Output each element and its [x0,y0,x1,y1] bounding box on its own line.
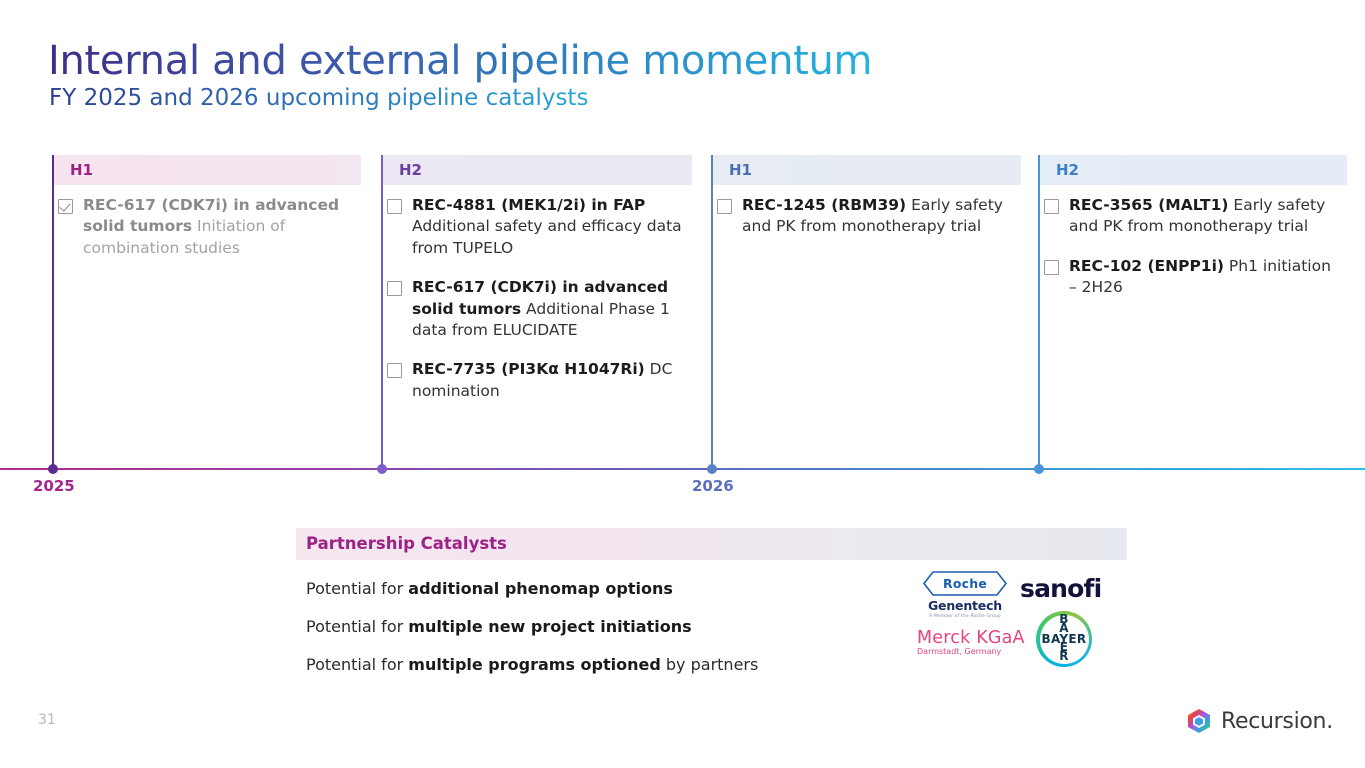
sanofi-logo: sanofi [1020,574,1101,603]
column-period-header: H2 [1040,155,1347,185]
checkbox-unchecked-icon[interactable] [717,199,732,214]
bayer-logo: BA ER BAYER [1036,611,1092,667]
timeline-column: H2REC-3565 (MALT1) Early safety and PK f… [1040,155,1347,317]
sanofi-wordmark: sanofi [1020,574,1101,603]
page-number: 31 [38,712,56,728]
timeline-year-label: 2025 [33,477,75,495]
timeline-column: H1REC-617 (CDK7i) in advanced solid tumo… [54,155,361,277]
catalyst-item-text: REC-617 (CDK7i) in advanced solid tumors… [412,277,688,341]
bayer-letter: R [1036,652,1092,661]
timeline-column: H2REC-4881 (MEK1/2i) in FAP Additional s… [383,155,692,420]
timeline-node-dot [1034,464,1044,474]
roche-genentech-logo: Roche Genentech A Member of the Roche Gr… [922,571,1008,619]
partnership-catalysts-heading: Partnership Catalysts [296,528,1127,560]
merck-wordmark: Merck KGaA [917,628,1025,648]
page-subtitle: FY 2025 and 2026 upcoming pipeline catal… [49,85,588,111]
catalyst-item[interactable]: REC-4881 (MEK1/2i) in FAP Additional saf… [387,195,688,259]
bayer-wordmark-horizontal: BAYER [1036,633,1092,645]
checkbox-unchecked-icon[interactable] [1044,199,1059,214]
catalyst-item-title: REC-1245 (RBM39) [742,196,906,214]
catalyst-item[interactable]: REC-102 (ENPP1i) Ph1 initiation – 2H26 [1044,256,1343,299]
catalyst-item[interactable]: REC-3565 (MALT1) Early safety and PK fro… [1044,195,1343,238]
roche-hexagon-icon: Roche [923,571,1007,596]
catalyst-item-text: REC-1245 (RBM39) Early safety and PK fro… [742,195,1017,238]
merck-location: Darmstadt, Germany [917,647,1025,656]
line-prefix: Potential for [306,617,408,636]
checkbox-unchecked-icon[interactable] [387,363,402,378]
catalyst-item-text: REC-617 (CDK7i) in advanced solid tumors… [83,195,357,259]
line-suffix: by partners [661,655,759,674]
line-prefix: Potential for [306,579,408,598]
column-item-list: REC-1245 (RBM39) Early safety and PK fro… [713,185,1021,238]
column-period-header: H1 [713,155,1021,185]
catalyst-item-text: REC-7735 (PI3Kα H1047Ri) DC nomination [412,359,688,402]
catalyst-item-text: REC-102 (ENPP1i) Ph1 initiation – 2H26 [1069,256,1343,299]
column-item-list: REC-617 (CDK7i) in advanced solid tumors… [54,185,361,259]
timeline-column: H1REC-1245 (RBM39) Early safety and PK f… [713,155,1021,256]
slide: Internal and external pipeline momentum … [0,0,1365,768]
checkbox-unchecked-icon[interactable] [387,281,402,296]
catalyst-item[interactable]: REC-7735 (PI3Kα H1047Ri) DC nomination [387,359,688,402]
line-emphasis: additional phenomap options [408,579,673,598]
timeline-node-dot [48,464,58,474]
merck-kgaa-logo: Merck KGaA Darmstadt, Germany [917,628,1025,656]
column-period-header: H1 [54,155,361,185]
timeline-year-label: 2026 [692,477,734,495]
page-title: Internal and external pipeline momentum [48,38,872,84]
catalyst-item-subtitle: Additional safety and efficacy data from… [412,217,682,256]
catalyst-item-text: REC-3565 (MALT1) Early safety and PK fro… [1069,195,1343,238]
recursion-wordmark: Recursion. [1221,709,1333,734]
checkbox-unchecked-icon[interactable] [1044,260,1059,275]
catalyst-item-title: REC-102 (ENPP1i) [1069,257,1224,275]
line-prefix: Potential for [306,655,408,674]
catalyst-item-title: REC-3565 (MALT1) [1069,196,1228,214]
catalyst-item[interactable]: REC-617 (CDK7i) in advanced solid tumors… [387,277,688,341]
checkbox-unchecked-icon[interactable] [387,199,402,214]
genentech-tagline: A Member of the Roche Group [922,614,1008,619]
genentech-wordmark: Genentech [922,598,1008,613]
catalyst-item-text: REC-4881 (MEK1/2i) in FAP Additional saf… [412,195,688,259]
line-emphasis: multiple new project initiations [408,617,691,636]
checkbox-checked-icon[interactable] [58,199,73,214]
timeline-axis [0,468,1365,470]
catalyst-item[interactable]: REC-617 (CDK7i) in advanced solid tumors… [58,195,357,259]
catalyst-item-title: REC-7735 (PI3Kα H1047Ri) [412,360,645,378]
recursion-hexagon-icon [1186,708,1212,734]
timeline-node-dot [707,464,717,474]
catalyst-item-title: REC-4881 (MEK1/2i) in FAP [412,196,645,214]
partner-logos: Roche Genentech A Member of the Roche Gr… [912,566,1127,670]
recursion-logo: Recursion. [1186,708,1333,734]
timeline-node-dot [377,464,387,474]
roche-wordmark: Roche [923,571,1007,596]
catalyst-item[interactable]: REC-1245 (RBM39) Early safety and PK fro… [717,195,1017,238]
column-item-list: REC-3565 (MALT1) Early safety and PK fro… [1040,185,1347,299]
column-item-list: REC-4881 (MEK1/2i) in FAP Additional saf… [383,185,692,402]
column-period-header: H2 [383,155,692,185]
line-emphasis: multiple programs optioned [408,655,661,674]
